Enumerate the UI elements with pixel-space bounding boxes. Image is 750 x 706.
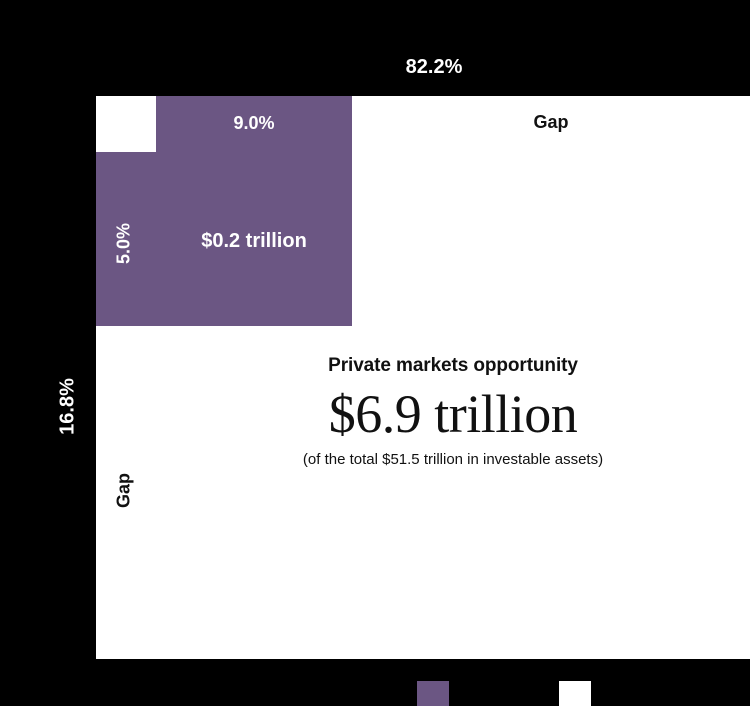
opportunity-callout: Private markets opportunity $6.9 trillio… [156,355,750,468]
legend-item[interactable] [559,681,599,706]
gap-swatch-icon [559,681,591,706]
legend-item[interactable] [417,681,457,706]
infographic-canvas: 82.2% Gap 9.0% $0.2 trillion 5.0% 16.8% … [0,0,750,706]
allocated-swatch-icon [417,681,449,706]
callout-subtitle: (of the total $51.5 trillion in investab… [156,451,750,468]
allocation-value-label: $0.2 trillion [156,230,352,253]
allocation-percent-label: 9.0% [156,113,352,134]
top-gap-label: Gap [352,112,750,133]
callout-title: Private markets opportunity [156,355,750,377]
left-gap-percent-label: 16.8% [57,347,80,467]
allocation-vertical-percent-label: 5.0% [114,184,135,304]
left-gap-label: Gap [114,431,135,551]
legend [0,681,750,706]
callout-figure: $6.9 trillion [156,383,750,447]
top-gap-percent-label: 82.2% [59,56,750,79]
